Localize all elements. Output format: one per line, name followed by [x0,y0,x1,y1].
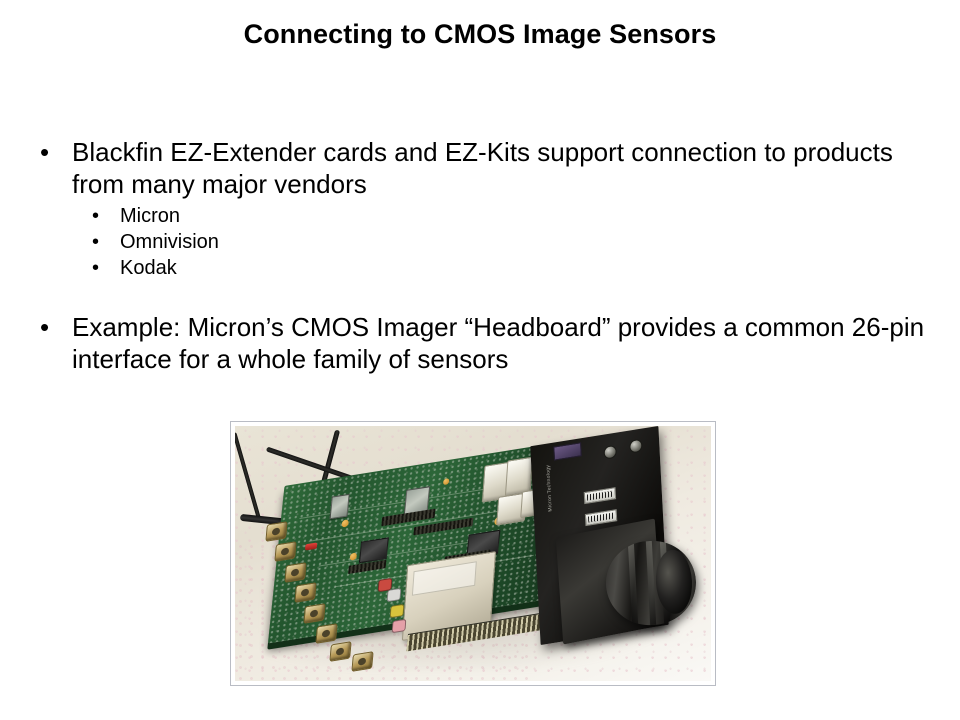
headboard-silkscreen-text: Micron Technology [545,464,553,512]
screw-icon [603,445,617,460]
rca-connector [284,562,306,583]
sub-bullet-list-1: • Micron • Omnivision • Kodak [36,203,926,281]
bullet-item-2: • Example: Micron’s CMOS Imager “Headboa… [36,311,926,375]
sub-bullet-marker-icon: • [92,203,99,229]
part-label [584,487,616,504]
rca-connector [315,623,337,644]
page-title: Connecting to CMOS Image Sensors [0,17,960,51]
audio-jack [389,603,404,617]
rca-connector [303,603,325,624]
rca-connector [351,651,373,672]
bullet-marker-icon: • [40,311,49,343]
bullet-item-1-text: Blackfin EZ-Extender cards and EZ-Kits s… [72,136,926,200]
cable-icon [235,432,261,522]
connector-block [553,442,582,460]
sub-bullet-item-micron: • Micron [36,203,926,229]
sub-bullet-marker-icon: • [92,229,99,255]
sub-bullet-item-kodak: • Kodak [36,255,926,281]
sub-bullet-item-micron-text: Micron [120,205,180,227]
sub-bullet-item-omnivision-text: Omnivision [120,231,219,253]
bullet-item-2-text: Example: Micron’s CMOS Imager “Headboard… [72,311,926,375]
part-label [585,509,617,526]
ic-chip [330,495,350,520]
rca-connector [265,521,287,542]
photo-frame: Micron Technology Micron Technology [230,421,716,686]
bullet-spacer [36,281,926,311]
bullet-marker-icon: • [40,136,49,168]
sub-bullet-marker-icon: • [92,255,99,281]
slide-canvas: Connecting to CMOS Image Sensors • Black… [0,0,960,720]
sub-bullet-item-omnivision: • Omnivision [36,229,926,255]
screw-icon [629,439,643,454]
sub-bullet-item-kodak-text: Kodak [120,257,177,279]
bullet-item-1: • Blackfin EZ-Extender cards and EZ-Kits… [36,136,926,200]
rca-connector [330,641,352,662]
hardware-photo: Micron Technology Micron Technology [235,426,711,681]
bullet-list: • Blackfin EZ-Extender cards and EZ-Kits… [36,136,926,375]
rca-connector [294,582,316,603]
